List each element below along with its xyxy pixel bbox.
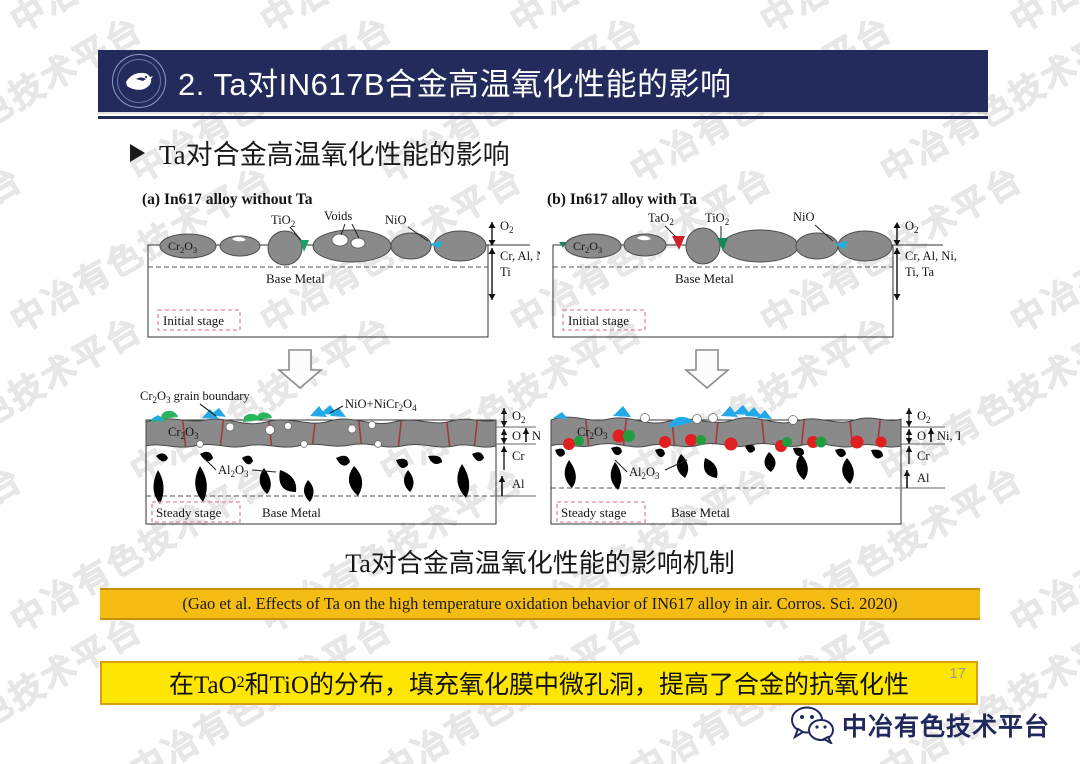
bird-emblem-icon [122, 68, 156, 94]
panel-b-base-metal-label: Base Metal [675, 271, 734, 286]
panel-a-title: (a) In617 alloy without Ta [142, 191, 313, 208]
panel-c-axis-o2: O2 [512, 409, 526, 425]
reference-text: (Gao et al. Effects of Ta on the high te… [182, 594, 897, 614]
watermark-text: 中冶有色技术平台 [500, 752, 781, 764]
panel-b-axis-elements: Cr, Al, Ni, [905, 249, 957, 263]
watermark-text: 中冶有色技术平台 [1000, 0, 1080, 42]
university-seal-logo [112, 54, 166, 108]
watermark-text: 中冶有色技术平台 [0, 0, 31, 42]
panel-d-base-metal-label: Base Metal [671, 505, 730, 520]
panel-b-axis-o2: O2 [905, 219, 919, 235]
panel-a-voids-label: Voids [324, 209, 352, 223]
conclusion-subscript: 2 [237, 674, 245, 692]
watermark-text: 中冶有色技术平台 [500, 0, 781, 42]
watermark-text: 中冶有色技术平台 [0, 0, 281, 42]
section-subtitle-text: Ta对合金高温氧化性能的影响 [159, 133, 510, 172]
panel-a-stage-label: Initial stage [163, 313, 224, 328]
panel-c-grain-boundary-label: Cr2O3 grain boundary [140, 389, 250, 405]
panel-a-nio-label: NiO [385, 213, 407, 227]
panel-c-axis-cr: Cr [512, 449, 525, 463]
panel-a-tio2-label: TiO2 [271, 213, 295, 229]
panel-b-tio2-label: TiO2 [705, 211, 729, 227]
watermark-text: 中冶有色技术平台 [1000, 752, 1080, 764]
panel-d-stage-label: Steady stage [561, 505, 627, 520]
panel-c-stage-label: Steady stage [156, 505, 222, 520]
watermark-text: 中冶有色技术平台 [0, 302, 151, 492]
wechat-icon [790, 706, 834, 744]
panel-c-axis-ni-ti: Ni, Ti [532, 429, 540, 443]
conclusion-text-part2: 和TiO的分布，填充氧化膜中微孔洞，提高了合金的抗氧化性 [245, 665, 909, 701]
watermark-text: 中冶有色技术平台 [0, 152, 31, 342]
panel-c-al2o3-label: Al2O3 [218, 463, 249, 479]
panel-c-nio-label: NiO+NiCr2O4 [345, 397, 417, 413]
watermark-text: 中冶有色技术平台 [250, 752, 531, 764]
panel-d-axis-ni-ti-ta: Ni, Ti, Ta [937, 429, 960, 443]
panel-a-base-metal-label: Base Metal [266, 271, 325, 286]
panel-d-axis-al: Al [917, 471, 930, 485]
panel-c-steady-stage-without-ta: Cr2O3 grain boundary NiO+NiCr2O4 Cr2O3 A… [140, 384, 540, 539]
bullet-triangle-icon [130, 144, 145, 162]
panel-b-title: (b) In617 alloy with Ta [547, 191, 697, 208]
panel-d-al2o3-label: Al2O3 [629, 465, 660, 481]
panel-b-stage-label: Initial stage [568, 313, 629, 328]
watermark-text: 中冶有色技术平台 [0, 752, 31, 764]
page-number: 17 [949, 665, 966, 682]
panel-d-axis-o2: O2 [917, 409, 931, 425]
watermark-text: 中冶有色技术平台 [750, 752, 1031, 764]
panel-a-in617-without-ta: (a) In617 alloy without Ta TiO2 Voids Ni… [140, 188, 540, 343]
page-title: 2. Ta对IN617B合金高温氧化性能的影响 [178, 59, 732, 104]
section-subtitle: Ta对合金高温氧化性能的影响 [130, 133, 510, 172]
title-underline [98, 116, 988, 119]
watermark-text: 中冶有色技术平台 [750, 0, 1031, 42]
panel-b-in617-with-ta: (b) In617 alloy with Ta TaO2 TiO2 NiO Cr… [545, 188, 960, 343]
panel-c-axis-o: O [512, 429, 521, 443]
panel-d-axis-o: O [917, 429, 926, 443]
figure-caption: Ta对合金高温氧化性能的影响机制 [0, 543, 1080, 580]
panel-c-base-metal-label: Base Metal [262, 505, 321, 520]
panel-a-axis-elements: Cr, Al, Ni, [500, 249, 540, 263]
panel-b-axis-elements2: Ti, Ta [905, 265, 934, 279]
panel-d-axis-cr: Cr [917, 449, 930, 463]
panel-d-steady-stage-with-ta: Cr2O3 Al2O3 Steady stage Base Metal O2 O… [545, 384, 960, 539]
panel-a-axis-elements2: Ti [500, 265, 511, 279]
oxidation-mechanism-figure: (a) In617 alloy without Ta TiO2 Voids Ni… [140, 188, 960, 538]
reference-citation-bar: (Gao et al. Effects of Ta on the high te… [100, 588, 980, 620]
watermark-text: 中冶有色技术平台 [250, 0, 531, 42]
wechat-account-name: 中冶有色技术平台 [842, 707, 1050, 743]
panel-b-tao2-label: TaO2 [648, 211, 674, 227]
wechat-account-badge[interactable]: 中冶有色技术平台 [790, 706, 1050, 744]
slide-title-bar: 2. Ta对IN617B合金高温氧化性能的影响 [98, 50, 988, 112]
panel-a-axis-o2: O2 [500, 219, 514, 235]
conclusion-highlight-bar: 在TaO2和TiO的分布，填充氧化膜中微孔洞，提高了合金的抗氧化性 17 [100, 661, 978, 705]
panel-c-axis-al: Al [512, 477, 525, 491]
panel-b-nio-label: NiO [793, 210, 815, 224]
watermark-text: 中冶有色技术平台 [0, 752, 281, 764]
conclusion-text-part1: 在TaO [169, 665, 237, 701]
watermark-text: 中冶有色技术平台 [1000, 152, 1080, 342]
